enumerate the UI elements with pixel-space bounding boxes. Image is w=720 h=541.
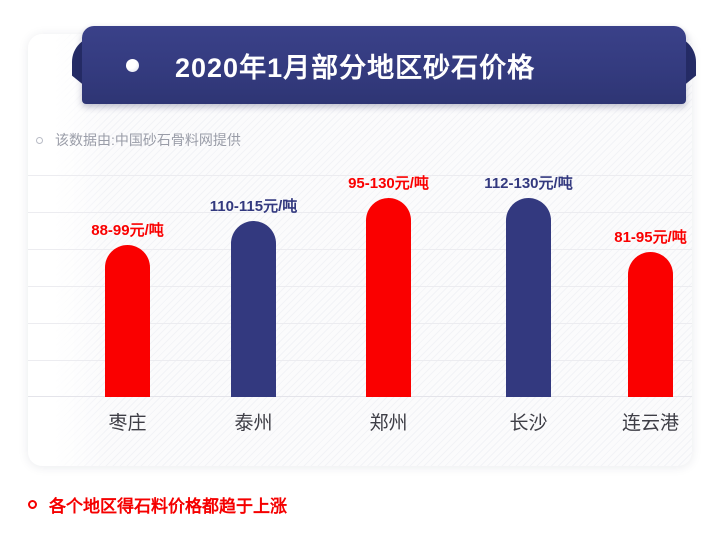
x-axis-labels: 枣庄泰州郑州长沙连云港 (28, 408, 692, 442)
bar-value-label: 95-130元/吨 (348, 172, 429, 193)
bar (366, 198, 411, 397)
subtitle-label: 该数据由:中国砂石骨料网提供 (55, 130, 241, 150)
bar (628, 252, 673, 397)
plot-area: 88-99元/吨110-115元/吨95-130元/吨112-130元/吨81-… (28, 175, 692, 397)
bar-value-label: 110-115元/吨 (210, 195, 298, 216)
x-axis-tick-label: 郑州 (369, 408, 407, 435)
footer-note: 各个地区得石料价格都趋于上涨 (28, 492, 287, 517)
bar (231, 221, 276, 397)
bar-series: 88-99元/吨110-115元/吨95-130元/吨112-130元/吨81-… (28, 175, 692, 397)
x-axis-tick-label: 长沙 (509, 408, 547, 435)
bar-value-label: 112-130元/吨 (484, 172, 572, 193)
bar-value-label: 81-95元/吨 (614, 226, 687, 247)
circle-outline-icon (28, 500, 37, 509)
bar-value-label: 88-99元/吨 (91, 219, 164, 240)
circle-outline-icon (36, 137, 43, 144)
x-axis-tick-label: 枣庄 (108, 408, 146, 435)
subtitle: 该数据由:中国砂石骨料网提供 (36, 130, 241, 150)
bar (105, 245, 150, 397)
chart-infographic: 2020年1月部分地区砂石价格 该数据由:中国砂石骨料网提供 88-99元/吨1… (0, 0, 720, 541)
bar (506, 198, 551, 397)
dot-icon (126, 59, 139, 72)
x-axis-tick-label: 泰州 (234, 408, 272, 435)
x-axis-tick-label: 连云港 (622, 408, 679, 435)
page-title: 2020年1月部分地区砂石价格 (175, 46, 535, 85)
footer-label: 各个地区得石料价格都趋于上涨 (49, 492, 287, 517)
banner-body: 2020年1月部分地区砂石价格 (82, 26, 686, 104)
title-banner: 2020年1月部分地区砂石价格 (78, 26, 690, 104)
